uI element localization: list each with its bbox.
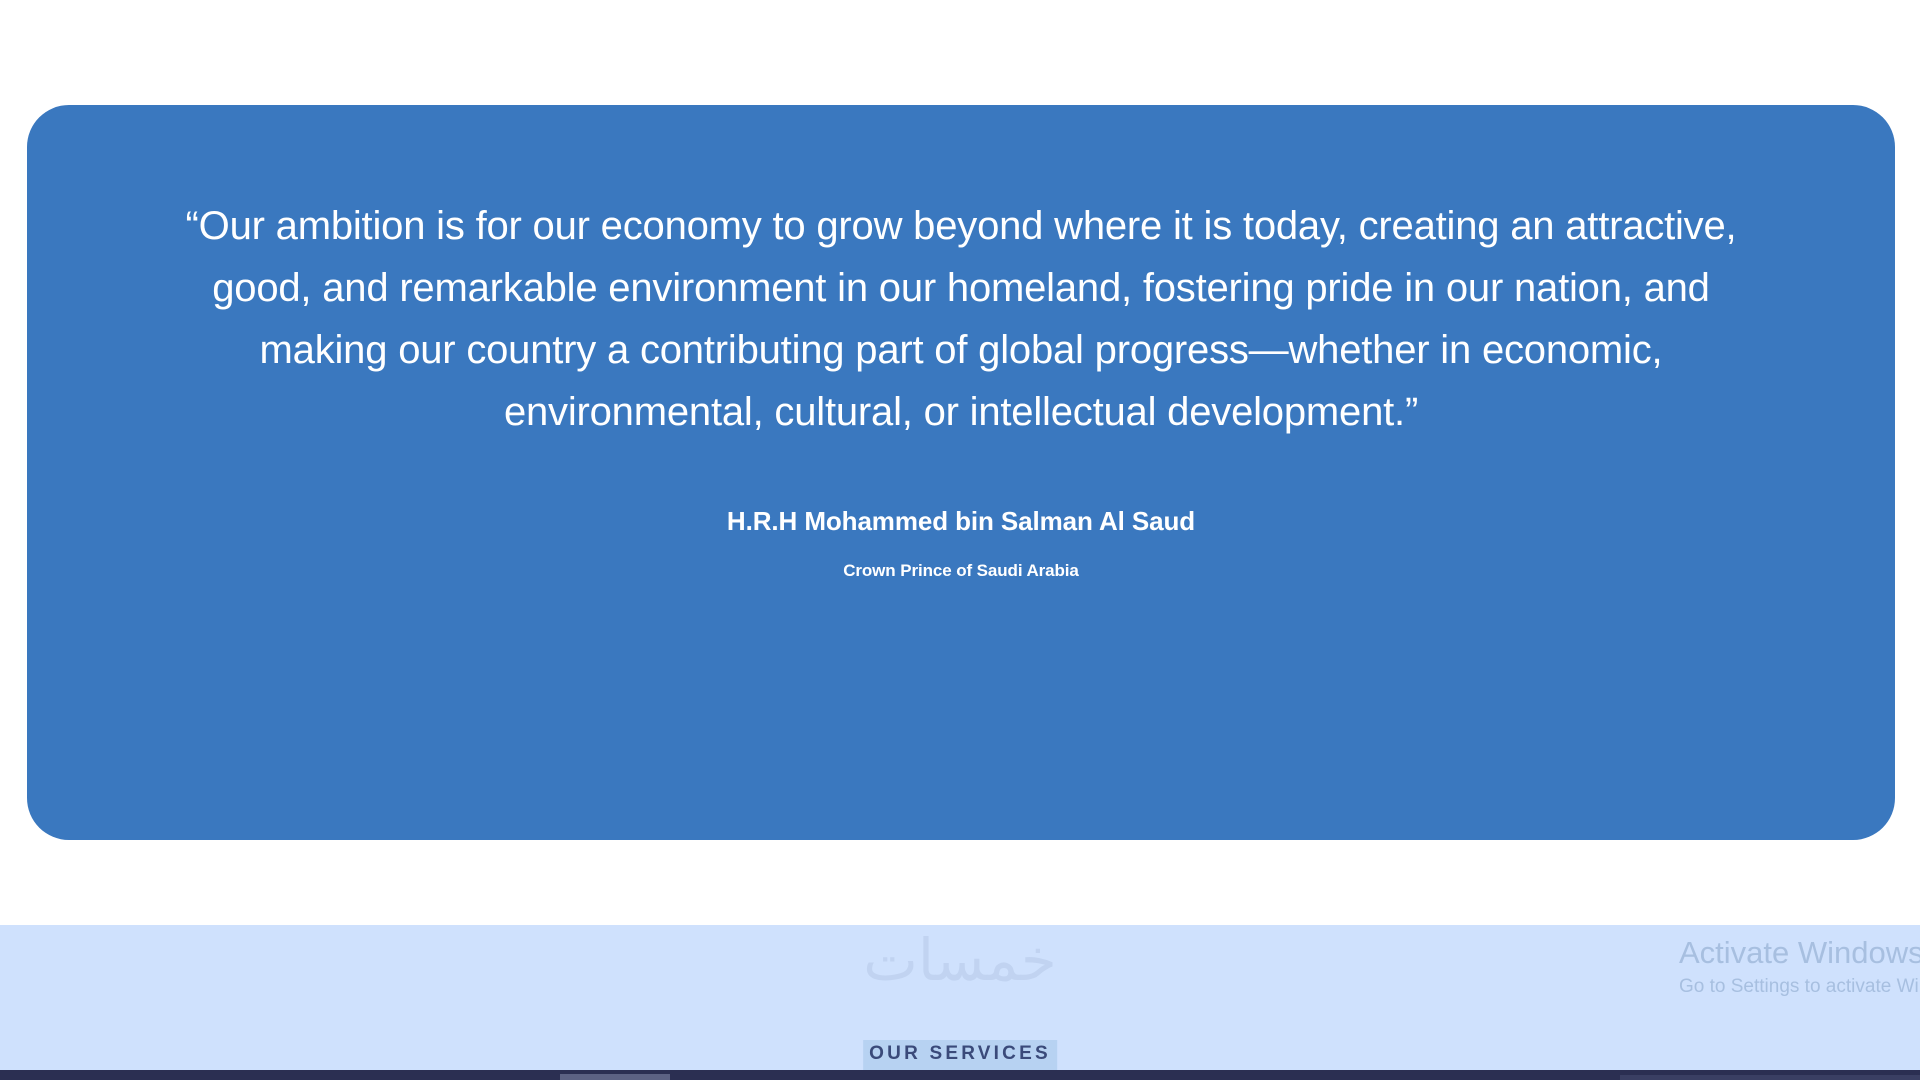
quote-card: “Our ambition is for our economy to grow…: [27, 105, 1895, 840]
quote-author-role: Crown Prince of Saudi Arabia: [727, 561, 1195, 581]
hero-section: “Our ambition is for our economy to grow…: [0, 0, 1920, 925]
page-root: “Our ambition is for our economy to grow…: [0, 0, 1920, 1080]
taskbar-system-tray[interactable]: [1620, 1075, 1920, 1080]
quote-author: H.R.H Mohammed bin Salman Al Saud: [727, 505, 1195, 539]
taskbar[interactable]: [0, 1070, 1920, 1080]
services-section: خمسات OUR SERVICES: [0, 925, 1920, 1074]
services-eyebrow-heading[interactable]: OUR SERVICES: [863, 1040, 1057, 1070]
quote-attribution: H.R.H Mohammed bin Salman Al Saud Crown …: [727, 505, 1195, 581]
khamsat-watermark-logo: خمسات: [863, 926, 1056, 994]
quote-text: “Our ambition is for our economy to grow…: [181, 195, 1741, 443]
taskbar-window-item[interactable]: [560, 1074, 670, 1080]
